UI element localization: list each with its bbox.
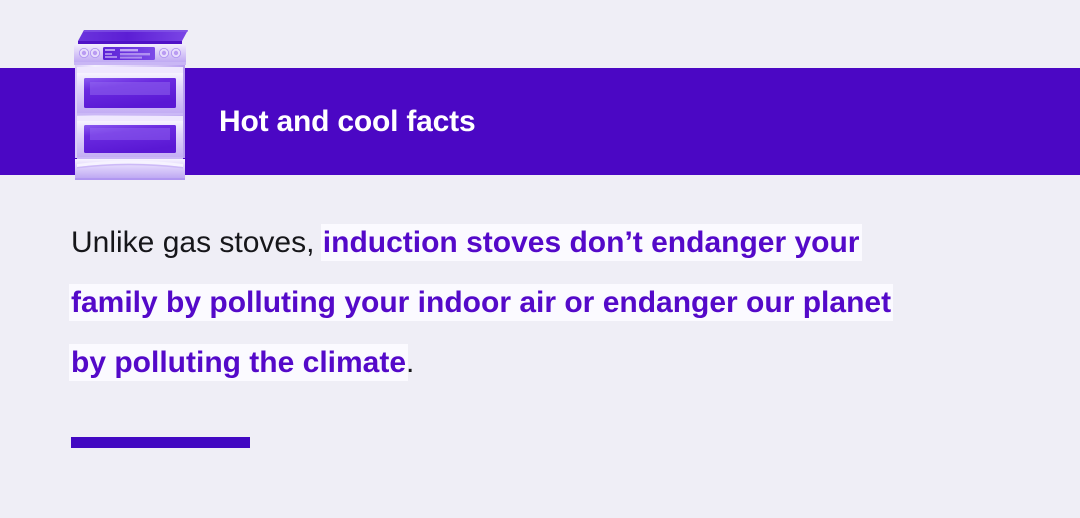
lead-text: Unlike gas stoves, (71, 226, 323, 259)
highlight-line-2: family by polluting your indoor air or e… (71, 286, 891, 319)
stove-upper-oven-door (77, 67, 183, 116)
stove-lower-oven-door (77, 116, 183, 160)
body-paragraph: Unlike gas stoves, induction stoves don’… (71, 213, 1031, 393)
stove-illustration-svg (68, 28, 192, 180)
page-title: Hot and cool facts (219, 68, 475, 175)
accent-rule (71, 437, 250, 448)
infographic-card: Hot and cool facts (0, 0, 1080, 518)
trailing-period: . (406, 346, 414, 379)
stove-bottom-drawer (75, 159, 185, 180)
highlight-line-1: induction stoves don’t endanger your (323, 226, 860, 259)
highlight-line-3: by polluting the climate (71, 346, 406, 379)
stove-cooktop (78, 30, 188, 45)
stove-control-panel (74, 44, 186, 65)
induction-stove-icon (68, 28, 192, 180)
